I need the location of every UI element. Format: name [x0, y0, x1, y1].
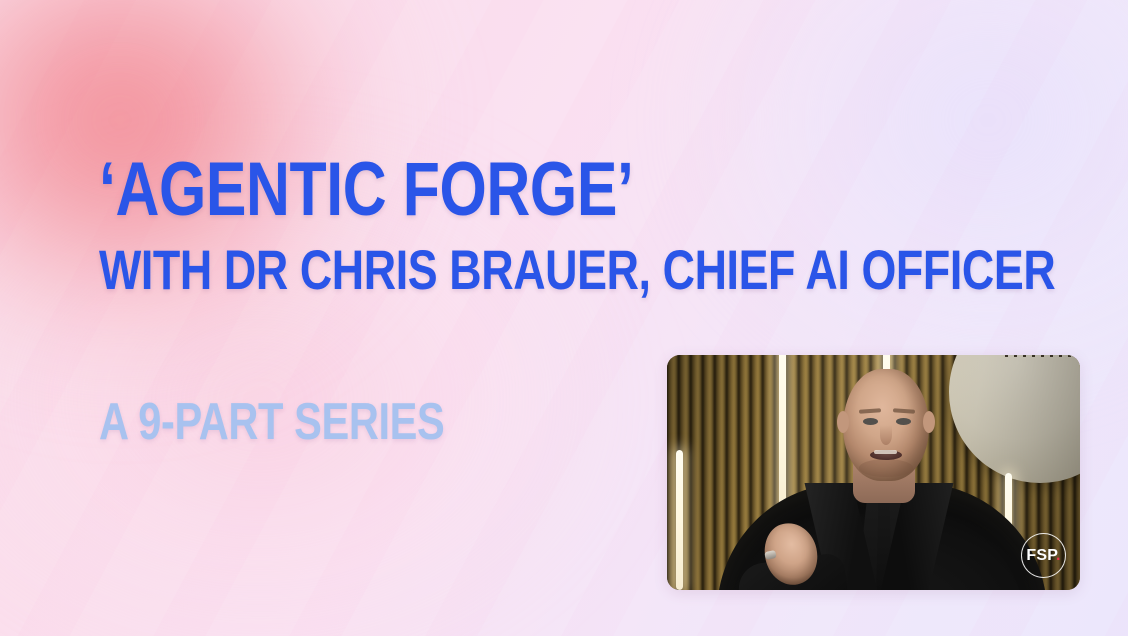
subheadline: WITH DR CHRIS BRAUER, CHIEF AI OFFICER [99, 242, 675, 298]
title-block: ‘AGENTIC FORGE’ WITH DR CHRIS BRAUER, CH… [99, 152, 819, 298]
nose [880, 425, 892, 445]
ear-left [837, 411, 849, 433]
fsp-logo-letters: FSP [1026, 547, 1056, 564]
ear-right [923, 411, 935, 433]
teeth [874, 450, 897, 454]
fsp-logo-text: FSP. [1026, 548, 1060, 564]
eye-left [863, 418, 878, 425]
presentation-slide: ‘AGENTIC FORGE’ WITH DR CHRIS BRAUER, CH… [0, 0, 1128, 636]
eye-right [896, 418, 911, 425]
chin-shadow [859, 459, 913, 477]
speaker-figure [667, 355, 1080, 590]
fsp-logo: FSP. [1021, 533, 1066, 578]
video-thumbnail[interactable]: FSP. [667, 355, 1080, 590]
fsp-logo-dot: . [1056, 547, 1061, 564]
headline: ‘AGENTIC FORGE’ [99, 152, 675, 228]
series-label: A 9-PART SERIES [99, 396, 444, 448]
